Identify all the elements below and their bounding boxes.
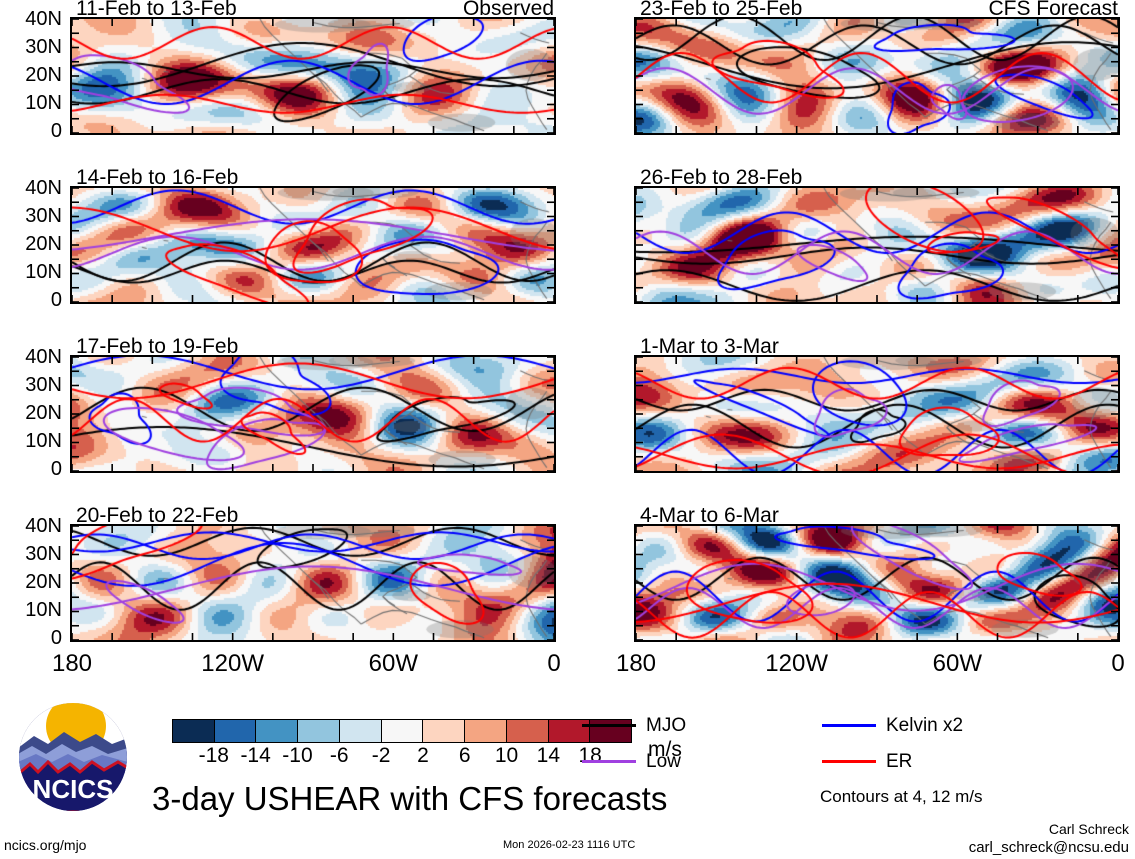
shear-heatmap (636, 357, 1118, 471)
author-name: Carl Schreck (1049, 822, 1129, 836)
shear-heatmap (72, 526, 554, 640)
colorbar-band (298, 720, 340, 742)
shear-heatmap (72, 188, 554, 302)
map-plot-area (634, 186, 1120, 304)
y-tick-label: 10N (2, 93, 62, 113)
x-tick-label: 60W (933, 652, 982, 676)
y-tick-label: 0 (2, 121, 62, 141)
panel-title: 20-Feb to 22-Feb (76, 505, 238, 526)
legend-line-mjo (582, 724, 636, 727)
map-plot-area (634, 524, 1120, 642)
legend-label-kelvin-x2: Kelvin x2 (886, 716, 963, 735)
y-tick-label: 0 (2, 459, 62, 479)
panel-title: 14-Feb to 16-Feb (76, 167, 238, 188)
x-tick-label: 120W (201, 652, 264, 676)
map-plot-area (70, 186, 556, 304)
main-title: 3-day USHEAR with CFS forecasts (152, 782, 667, 815)
y-tick-label: 10N (2, 262, 62, 282)
x-tick-label: 120W (765, 652, 828, 676)
colorbar-band (173, 720, 215, 742)
map-plot-area (634, 17, 1120, 135)
colorbar-band (382, 720, 424, 742)
colorbar-band (256, 720, 298, 742)
panel-title: 4-Mar to 6-Mar (640, 505, 779, 526)
shear-heatmap (72, 19, 554, 133)
shear-heatmap (72, 357, 554, 471)
x-tick-label: 0 (1111, 652, 1124, 676)
y-tick-label: 40N (2, 9, 62, 29)
x-tick-label: 180 (52, 652, 92, 676)
y-tick-label: 40N (2, 178, 62, 198)
map-plot-area (70, 524, 556, 642)
legend-line-er (822, 760, 876, 763)
colorbar-band (423, 720, 465, 742)
legend-label-er: ER (886, 752, 912, 771)
y-tick-label: 40N (2, 516, 62, 536)
y-tick-label: 30N (2, 544, 62, 564)
map-plot-area (634, 355, 1120, 473)
logo-text: NCICS (33, 774, 114, 804)
contour-legend: MJOKelvin x2LowER (530, 712, 1135, 774)
panel-title: 26-Feb to 28-Feb (640, 167, 802, 188)
shear-heatmap (636, 188, 1118, 302)
panel-title: 1-Mar to 3-Mar (640, 336, 779, 357)
author-email: carl_schreck@ncsu.edu (969, 840, 1129, 855)
timestamp: Mon 2026-02-23 1116 UTC (503, 840, 635, 851)
legend-label-low: Low (646, 752, 681, 771)
site-url: ncics.org/mjo (4, 838, 86, 852)
y-tick-label: 10N (2, 600, 62, 620)
shear-heatmap (636, 526, 1118, 640)
x-tick-label: 0 (547, 652, 560, 676)
y-tick-label: 10N (2, 431, 62, 451)
y-tick-label: 20N (2, 234, 62, 254)
legend-line-kelvin-x2 (822, 724, 876, 727)
panel-title: 17-Feb to 19-Feb (76, 336, 238, 357)
map-plot-area (70, 355, 556, 473)
y-tick-label: 20N (2, 572, 62, 592)
ncics-logo: NCICS (18, 702, 128, 812)
y-tick-label: 30N (2, 375, 62, 395)
map-plot-area (70, 17, 556, 135)
y-tick-label: 20N (2, 65, 62, 85)
x-tick-label: 180 (616, 652, 656, 676)
colorbar-band (465, 720, 507, 742)
y-tick-label: 20N (2, 403, 62, 423)
colorbar-band (340, 720, 382, 742)
y-tick-label: 0 (2, 290, 62, 310)
y-tick-label: 30N (2, 206, 62, 226)
y-tick-label: 30N (2, 37, 62, 57)
legend-label-mjo: MJO (646, 716, 686, 735)
shear-heatmap (636, 19, 1118, 133)
contour-note: Contours at 4, 12 m/s (820, 788, 983, 805)
legend-line-low (582, 760, 636, 763)
y-tick-label: 0 (2, 628, 62, 648)
y-tick-label: 40N (2, 347, 62, 367)
x-tick-label: 60W (369, 652, 418, 676)
colorbar-band (215, 720, 257, 742)
